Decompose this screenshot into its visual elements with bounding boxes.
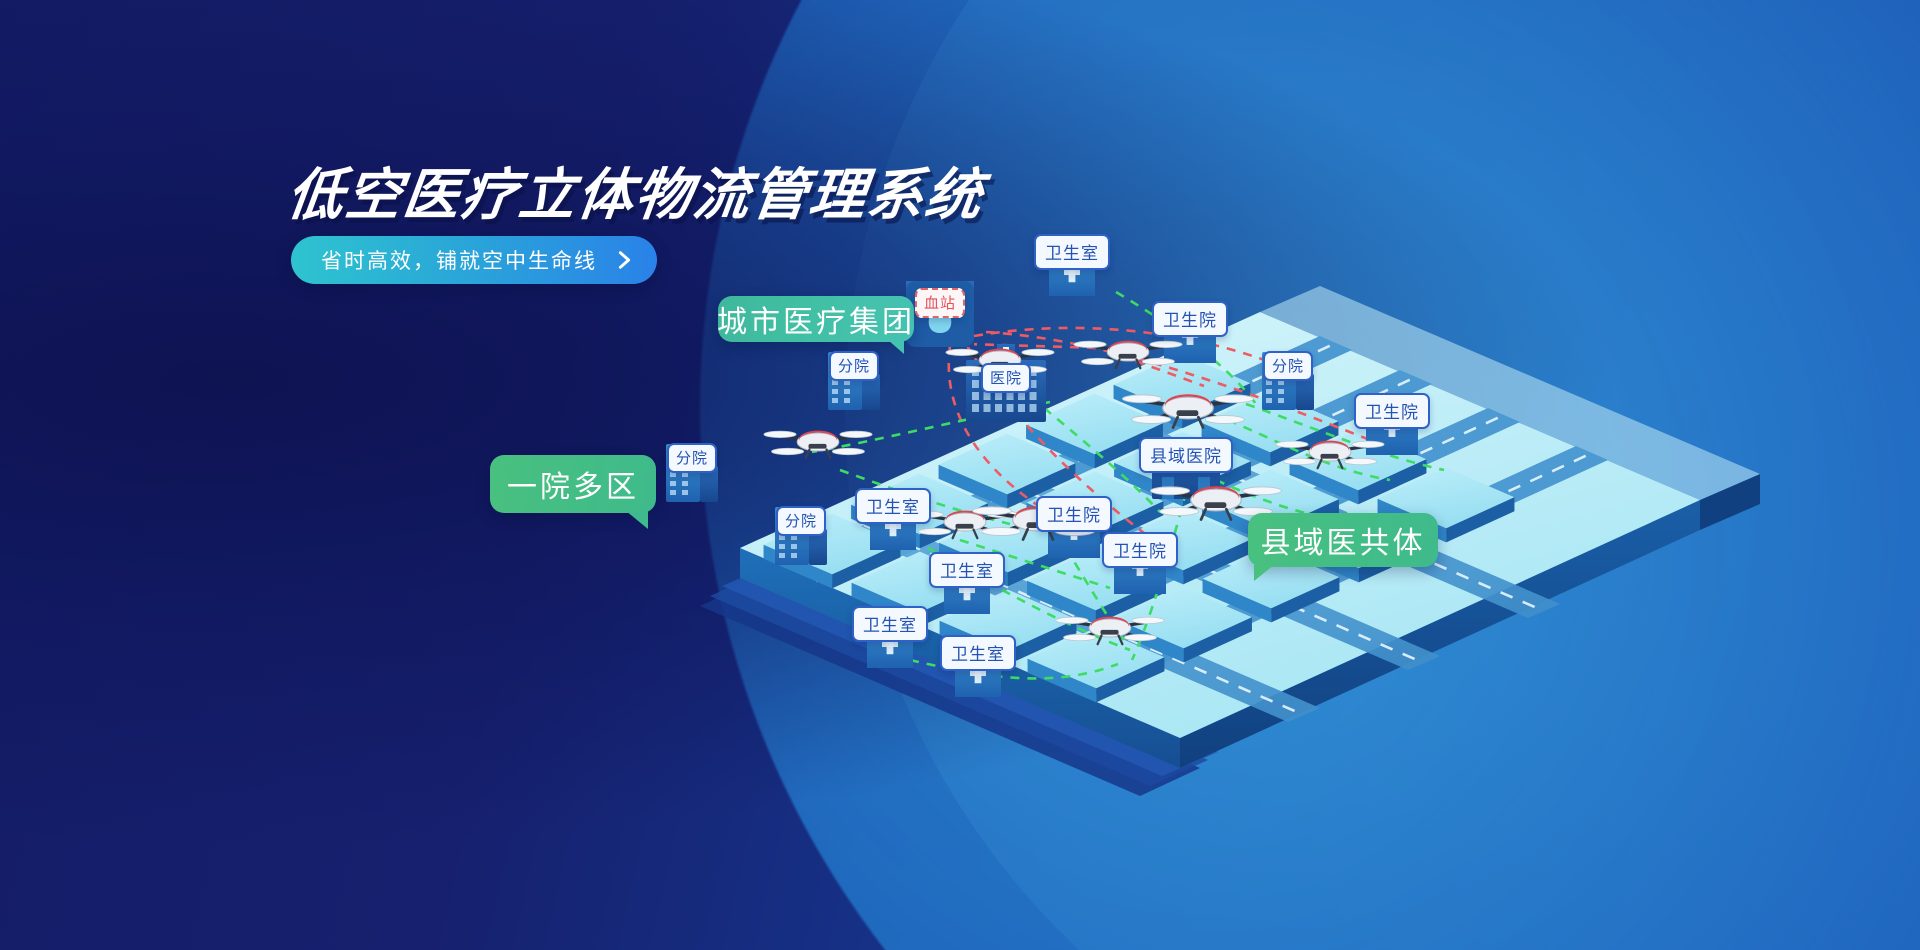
callout-label: 县域医共体: [1261, 518, 1426, 562]
map-label-n4[interactable]: 分院: [829, 351, 879, 381]
hero-cta-label: 省时高效，铺就空中生命线: [321, 245, 597, 275]
drone-icon: [764, 431, 872, 459]
map-label-text: 分院: [676, 447, 708, 468]
callout-one-hospital-multi-campus[interactable]: 一院多区: [490, 455, 656, 513]
map-label-text: 分院: [785, 510, 817, 531]
map-label-text: 医院: [990, 367, 1022, 388]
map-label-n3[interactable]: 血站: [915, 288, 965, 318]
callout-label: 城市医疗集团: [717, 297, 915, 341]
callout-beak: [626, 511, 648, 529]
callout-urban-medical-group[interactable]: 城市医疗集团: [718, 296, 914, 342]
map-label-n13[interactable]: 卫生院: [1102, 532, 1178, 568]
hero-banner: 低空医疗立体物流管理系统 省时高效，铺就空中生命线 城市医疗集团一院多区县域医共…: [0, 0, 1920, 950]
map-label-n16[interactable]: 卫生室: [940, 635, 1016, 671]
map-label-text: 卫生室: [866, 493, 920, 518]
map-label-n15[interactable]: 卫生室: [852, 606, 928, 642]
map-label-n10[interactable]: 分院: [776, 506, 826, 536]
isometric-logistics-map: [0, 0, 1920, 950]
map-label-text: 县域医院: [1150, 442, 1222, 467]
map-label-n12[interactable]: 卫生院: [1036, 496, 1112, 532]
map-label-n1[interactable]: 卫生室: [1034, 234, 1110, 270]
map-label-text: 卫生室: [940, 557, 994, 582]
map-label-text: 卫生室: [1045, 239, 1099, 264]
callout-label: 一院多区: [507, 462, 639, 506]
map-label-text: 卫生院: [1113, 537, 1167, 562]
map-label-text: 卫生室: [951, 640, 1005, 665]
callout-beak: [888, 340, 904, 354]
map-label-text: 血站: [924, 292, 956, 313]
map-label-n7[interactable]: 卫生院: [1354, 393, 1430, 429]
map-label-text: 分院: [1272, 355, 1304, 376]
map-label-n11[interactable]: 卫生室: [855, 488, 931, 524]
callout-beak: [1254, 565, 1274, 581]
chevron-right-icon: [613, 249, 635, 271]
map-label-n14[interactable]: 卫生室: [929, 552, 1005, 588]
map-label-n9[interactable]: 县域医院: [1139, 437, 1233, 473]
map-label-text: 卫生院: [1365, 398, 1419, 423]
map-label-n2[interactable]: 卫生院: [1152, 301, 1228, 337]
callout-county-medical-community[interactable]: 县域医共体: [1248, 513, 1438, 567]
map-label-n6[interactable]: 分院: [1263, 351, 1313, 381]
map-label-text: 分院: [838, 355, 870, 376]
map-label-text: 卫生院: [1047, 501, 1101, 526]
map-label-text: 卫生室: [863, 611, 917, 636]
hero-cta-button[interactable]: 省时高效，铺就空中生命线: [291, 236, 657, 284]
map-label-n5[interactable]: 医院: [981, 363, 1031, 393]
page-title: 低空医疗立体物流管理系统: [283, 150, 989, 231]
map-label-n8[interactable]: 分院: [667, 443, 717, 473]
map-label-text: 卫生院: [1163, 306, 1217, 331]
